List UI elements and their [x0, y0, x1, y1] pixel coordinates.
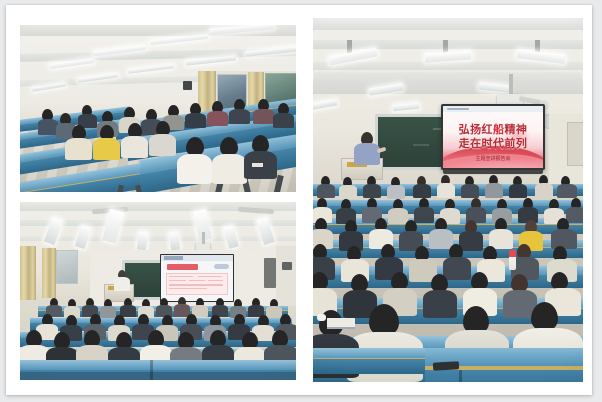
photo-bottom-left — [20, 202, 296, 380]
slide-badge: 主题宣讲报告会 — [475, 155, 510, 162]
water-bottle — [509, 250, 516, 270]
notebook — [327, 318, 355, 329]
projected-content-slide — [161, 255, 233, 301]
slide-line2: 走在时代前列 — [443, 135, 543, 151]
curtain — [42, 248, 56, 298]
projected-title-slide: 弘扬红船精神 走在时代前列 主题宣讲报告会 — [443, 106, 543, 168]
curtain — [20, 246, 36, 300]
earbuds-case — [317, 314, 326, 321]
classroom-side-scene — [20, 25, 296, 192]
lecture-slide-scene: 弘扬红船精神 走在时代前列 主题宣讲报告会 — [313, 18, 583, 382]
photo-collage: 弘扬红船精神 走在时代前列 主题宣讲报告会 — [6, 5, 592, 395]
speaker-body — [354, 143, 380, 165]
photo-top-left — [20, 25, 296, 192]
speaker-body — [114, 277, 130, 291]
projection-screen — [160, 254, 234, 302]
photo-right: 弘扬红船精神 走在时代前列 主题宣讲报告会 — [313, 18, 583, 382]
phone — [433, 361, 459, 370]
lecture-hall-rear-scene — [20, 202, 296, 380]
window-icon — [56, 250, 78, 284]
projection-screen: 弘扬红船精神 走在时代前列 主题宣讲报告会 — [441, 104, 545, 170]
collage-card: 弘扬红船精神 走在时代前列 主题宣讲报告会 — [6, 5, 592, 395]
